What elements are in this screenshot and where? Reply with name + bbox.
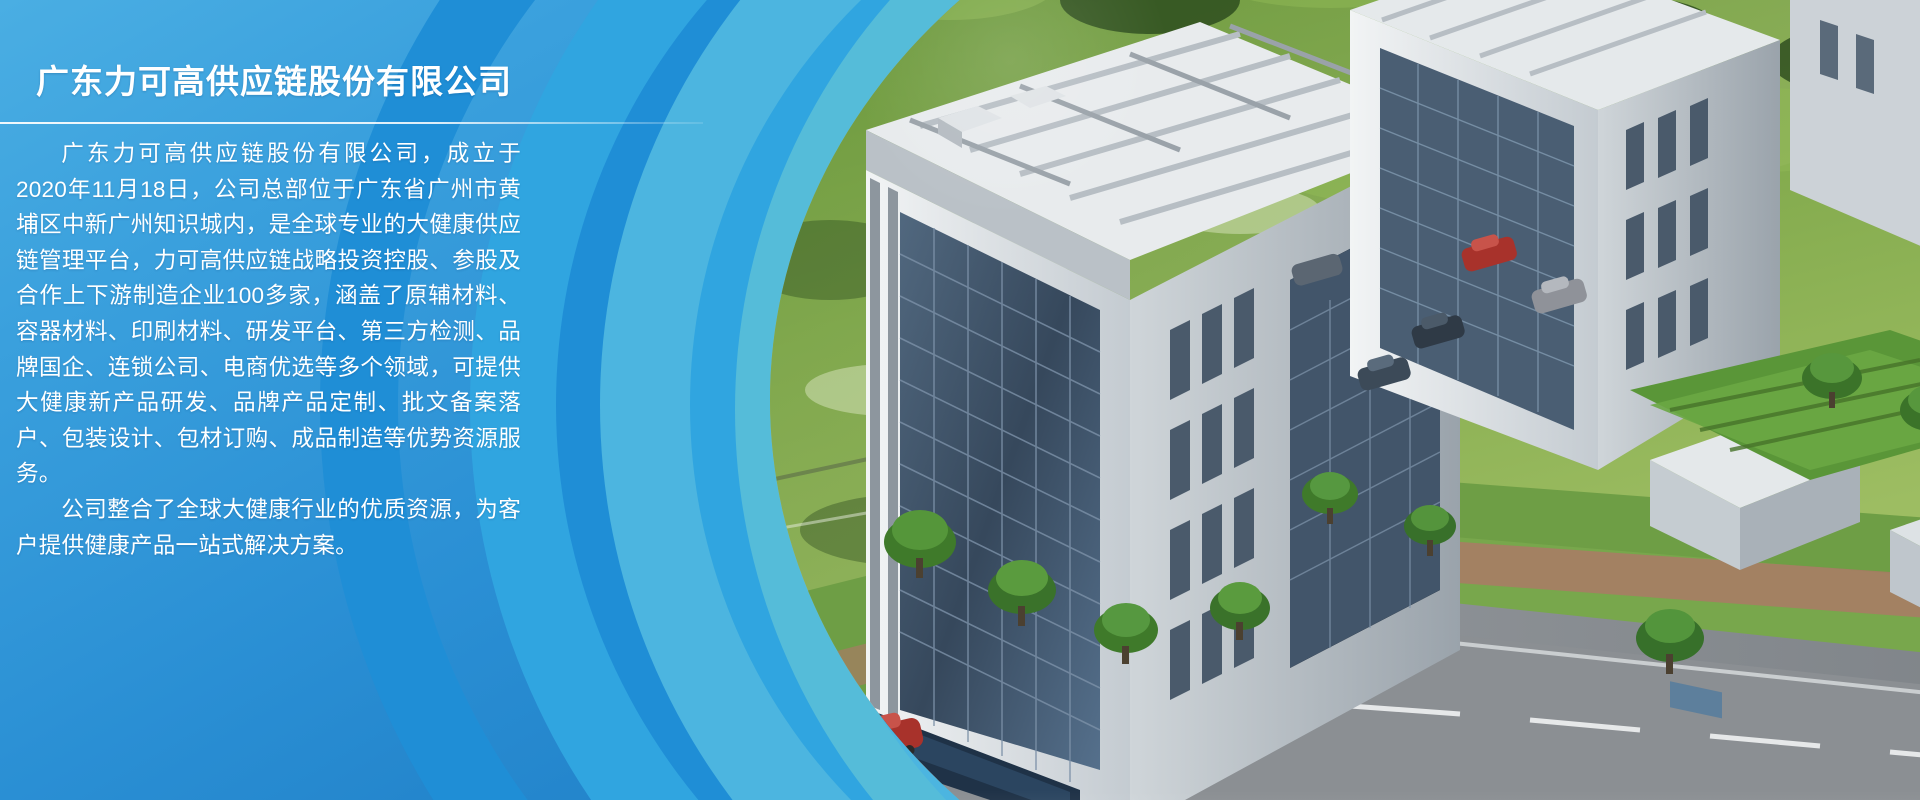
title-divider [0,122,703,124]
paragraph-1: 广东力可高供应链股份有限公司，成立于2020年11月18日，公司总部位于广东省广… [16,136,521,492]
paragraph-2: 公司整合了全球大健康行业的优质资源，为客户提供健康产品一站式解决方案。 [16,492,521,563]
campus-photo-frame [770,0,1920,800]
company-profile-banner: 广东力可高供应链股份有限公司 广东力可高供应链股份有限公司，成立于2020年11… [0,0,1920,800]
text-column: 广东力可高供应链股份有限公司 广东力可高供应链股份有限公司，成立于2020年11… [0,0,560,800]
campus-photo [770,0,1920,800]
company-description: 广东力可高供应链股份有限公司，成立于2020年11月18日，公司总部位于广东省广… [16,136,521,563]
page-title: 广东力可高供应链股份有限公司 [36,55,512,103]
